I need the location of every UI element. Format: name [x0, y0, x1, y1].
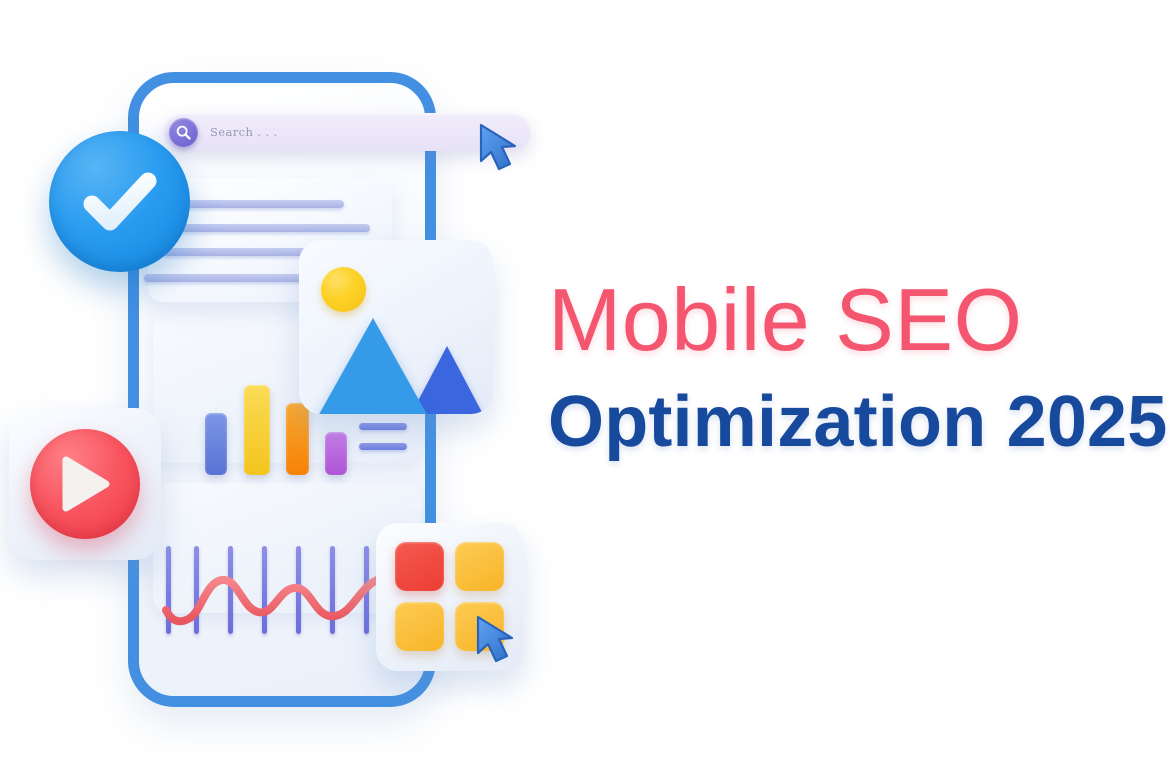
check-icon — [72, 154, 168, 250]
play-button[interactable] — [30, 429, 140, 539]
search-icon[interactable] — [169, 118, 198, 147]
sun-icon — [321, 267, 366, 312]
bar-2 — [244, 385, 270, 475]
text-line-1 — [166, 200, 344, 208]
grid-tile-orange-2[interactable] — [395, 602, 444, 651]
waveform-line-chart — [166, 538, 384, 648]
headline-primary: Mobile SEO — [548, 276, 1148, 364]
search-placeholder-text: Search . . . — [210, 125, 278, 139]
legend-dash-2 — [359, 443, 407, 450]
text-line-4 — [144, 274, 314, 282]
text-line-2 — [158, 224, 370, 232]
image-placeholder-card — [299, 240, 493, 414]
grid-tile-red[interactable] — [395, 542, 444, 591]
illustration-canvas: Search . . . — [0, 0, 1170, 780]
bar-3 — [286, 403, 309, 475]
legend-dash-1 — [359, 423, 407, 430]
headline-block: Mobile SEO Optimization 2025 — [548, 276, 1148, 458]
grid-tile-orange-1[interactable] — [455, 542, 504, 591]
play-icon — [58, 455, 112, 513]
verified-check-badge — [49, 131, 190, 272]
cursor-arrow-grid — [472, 613, 528, 680]
bar-1 — [205, 413, 227, 475]
bar-4 — [325, 432, 347, 475]
cursor-arrow-search — [475, 121, 531, 188]
headline-secondary: Optimization 2025 — [548, 386, 1148, 458]
video-play-card[interactable] — [9, 408, 161, 560]
mountain-front-icon — [317, 318, 429, 414]
text-line-3 — [162, 248, 312, 256]
wave-path — [166, 538, 384, 648]
